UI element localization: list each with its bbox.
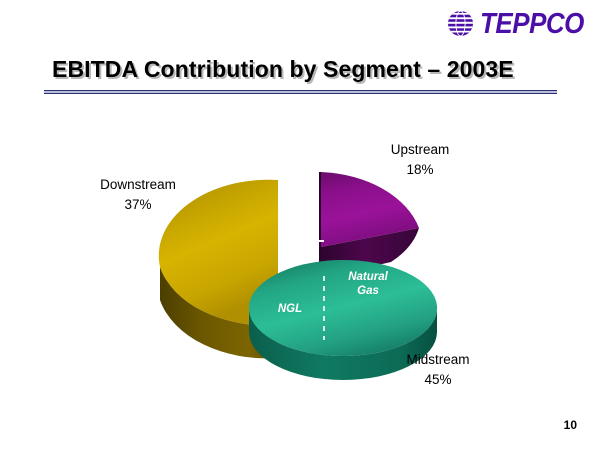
midstream-value: 45%	[368, 370, 508, 390]
downstream-name: Downstream	[68, 175, 208, 195]
ebitda-pie-chart: Natural Gas NGL Upstream 18% Downstream …	[0, 110, 600, 400]
teppco-globe-icon	[447, 10, 474, 37]
upstream-name: Upstream	[355, 140, 485, 160]
midstream-name: Midstream	[368, 350, 508, 370]
teppco-logo: TEPPCO	[447, 7, 592, 39]
teppco-wordmark: TEPPCO	[480, 8, 584, 37]
natural-gas-line-2: Gas	[337, 284, 399, 298]
upstream-callout: Upstream 18%	[355, 140, 485, 179]
natural-gas-line-1: Natural	[337, 270, 399, 284]
downstream-callout: Downstream 37%	[68, 175, 208, 214]
downstream-value: 37%	[68, 195, 208, 215]
title-divider	[44, 90, 557, 95]
midstream-natural-gas-label: Natural Gas	[337, 270, 399, 299]
midstream-ngl-label: NGL	[268, 302, 312, 316]
midstream-callout: Midstream 45%	[368, 350, 508, 389]
page-number: 10	[564, 418, 577, 432]
upstream-value: 18%	[355, 160, 485, 180]
page-title: EBITDA Contribution by Segment – 2003E	[52, 56, 514, 83]
